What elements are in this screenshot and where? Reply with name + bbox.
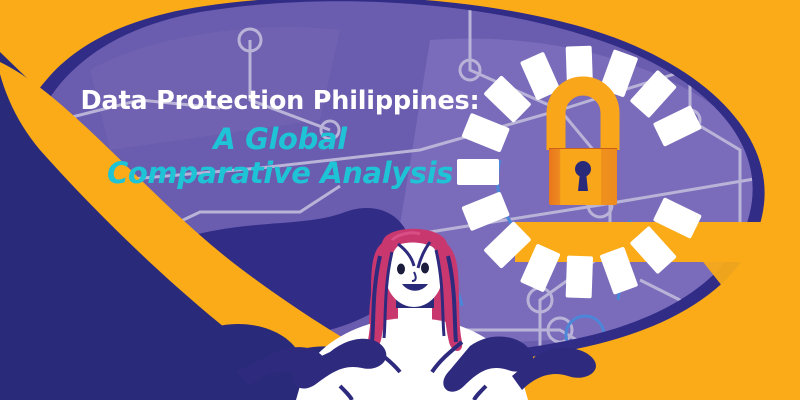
eye-left (397, 264, 405, 275)
woman-illustration (0, 0, 800, 400)
banner-graphic: Data Protection Philippines: A Global Co… (0, 0, 800, 400)
eye-right (421, 263, 429, 274)
